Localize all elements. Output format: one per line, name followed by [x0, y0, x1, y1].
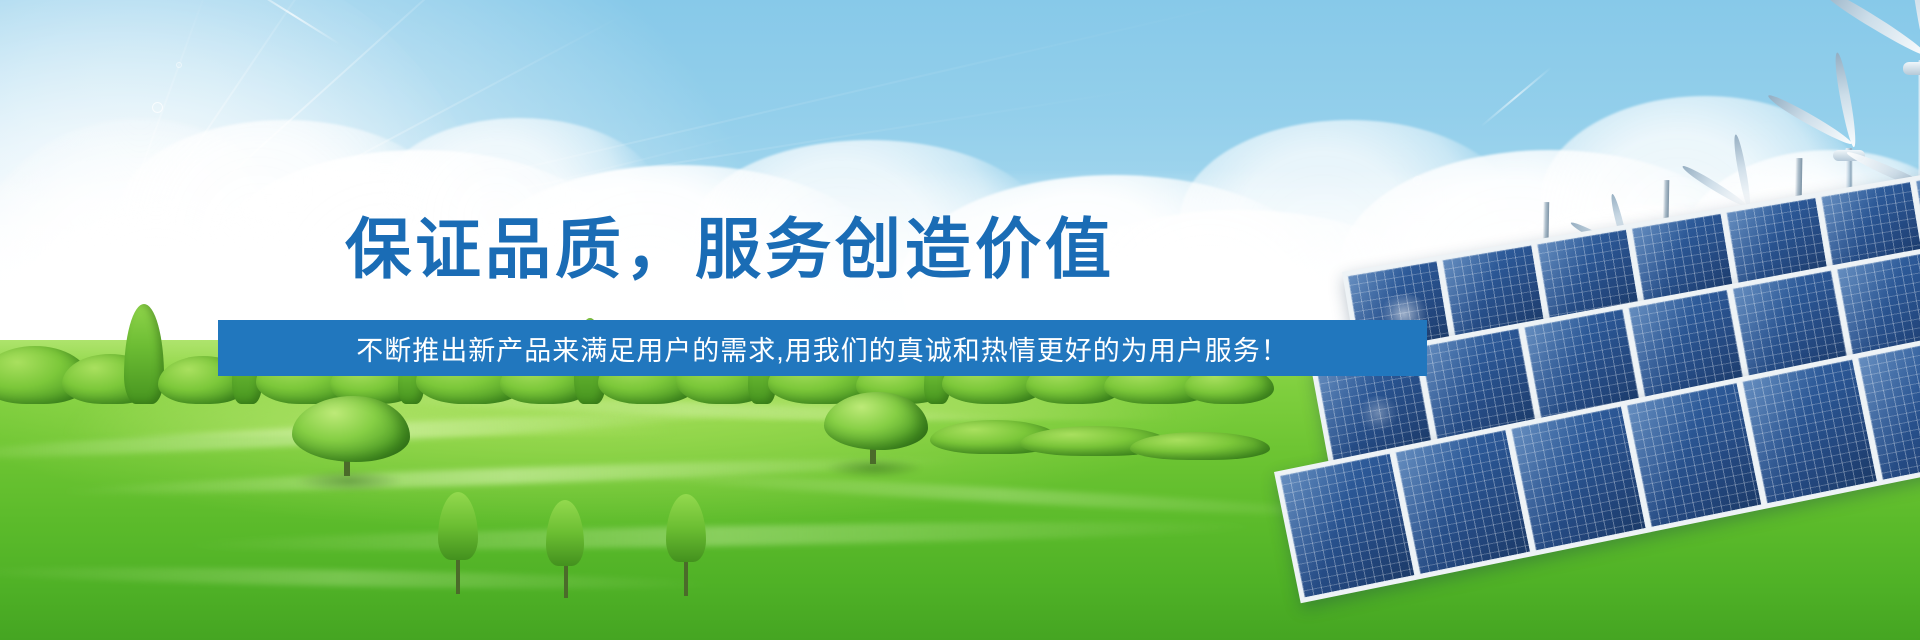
lens-flare-dot [152, 102, 163, 113]
mow-stripe [60, 452, 960, 499]
mow-stripe [620, 468, 1380, 522]
page-title: 保证品质，服务创造价值 [345, 196, 1115, 292]
shrub [1130, 432, 1270, 460]
hero-banner: 保证品质，服务创造价值 不断推出新产品来满足用户的需求,用我们的真诚和热情更好的… [0, 0, 1920, 640]
mow-stripe [180, 517, 1260, 556]
lens-flare-dot [176, 62, 182, 68]
mow-stripe [0, 563, 720, 592]
subtitle-text: 不断推出新产品来满足用户的需求,用我们的真诚和热情更好的为用户服务！ [356, 329, 1289, 368]
subtitle-banner-bar: 不断推出新产品来满足用户的需求,用我们的真诚和热情更好的为用户服务！ [218, 320, 1427, 376]
